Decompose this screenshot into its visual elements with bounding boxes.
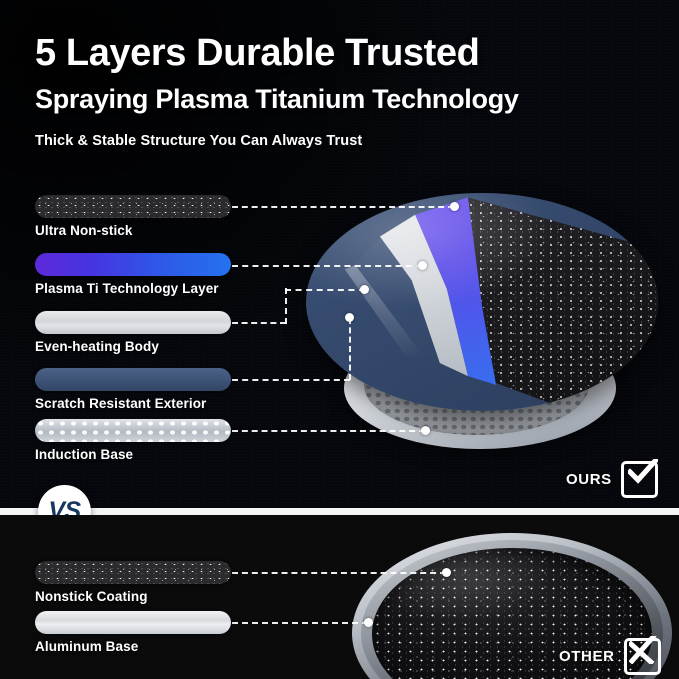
layer-label: Ultra Non-stick: [35, 223, 133, 238]
layer-label: Plasma Ti Technology Layer: [35, 281, 219, 296]
pan-gloss-highlight: [306, 193, 658, 411]
swatch-even-heating-body: [35, 311, 231, 334]
ours-pan-illustration: [286, 175, 666, 475]
other-badge-label: OTHER: [559, 648, 615, 665]
page-subtitle: Spraying Plasma Titanium Technology: [35, 86, 655, 113]
layer-label: Scratch Resistant Exterior: [35, 396, 206, 411]
swatch-plasma-ti-technology: [35, 253, 231, 276]
layer-label: Nonstick Coating: [35, 589, 148, 604]
layer-label: Induction Base: [35, 447, 133, 462]
checkbox-crossed-icon: [624, 638, 661, 675]
other-badge: OTHER: [559, 638, 661, 675]
layer-label: Even-heating Body: [35, 339, 159, 354]
ours-badge-label: OURS: [566, 471, 612, 488]
swatch-scratch-resistant-exterior: [35, 368, 231, 391]
checkbox-checked-icon: [621, 461, 658, 498]
swatch-nonstick-coating: [35, 561, 231, 584]
ours-panel: 5 Layers Durable Trusted Spraying Plasma…: [0, 0, 679, 512]
section-divider: [0, 508, 679, 515]
swatch-ultra-non-stick: [35, 195, 231, 218]
page-tagline: Thick & Stable Structure You Can Always …: [35, 134, 655, 149]
swatch-aluminum-base: [35, 611, 231, 634]
page-title: 5 Layers Durable Trusted: [35, 34, 655, 72]
swatch-induction-base: [35, 419, 231, 442]
infographic-root: 5 Layers Durable Trusted Spraying Plasma…: [0, 0, 679, 679]
heading-group: 5 Layers Durable Trusted Spraying Plasma…: [35, 34, 655, 149]
other-panel: Nonstick Coating Aluminum Base OTHER: [0, 515, 679, 679]
ours-badge: OURS: [566, 461, 658, 498]
layer-label: Aluminum Base: [35, 639, 138, 654]
